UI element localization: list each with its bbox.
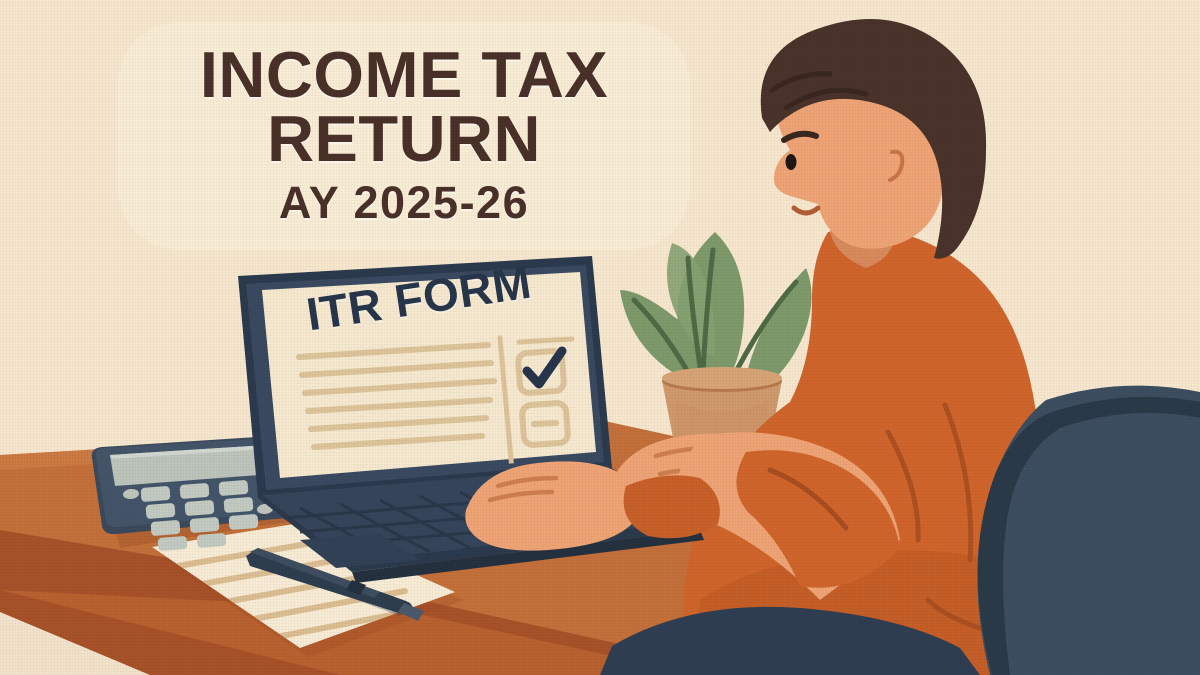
headline-line-1: INCOME TAX — [200, 43, 608, 107]
illustration-canvas: INCOME TAX RETURN AY 2025-26 ITR FORM — [0, 0, 1200, 675]
headline-assessment-year: AY 2025-26 — [279, 177, 529, 229]
headline-line-2: RETURN — [267, 107, 541, 171]
eye — [786, 154, 797, 170]
sleeve-cuff-far — [624, 475, 720, 538]
income-tax-return-badge: INCOME TAX RETURN AY 2025-26 — [118, 22, 690, 250]
